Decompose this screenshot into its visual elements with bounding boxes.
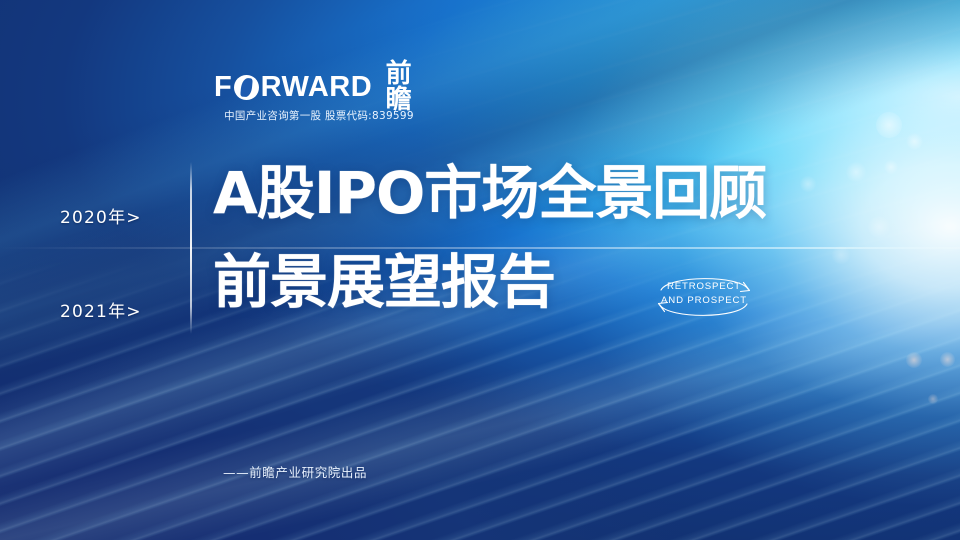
bokeh-circle xyxy=(800,176,816,192)
bokeh-circle xyxy=(868,216,890,238)
year-marker-2021: 2021年> xyxy=(60,297,185,322)
logo-brand-cn: 前瞻 xyxy=(373,61,424,113)
brand-logo: F RWARD 前瞻 中国产业咨询第一股 股票代码:839599 xyxy=(214,72,424,123)
logo-subtitle: 中国产业咨询第一股 股票代码:839599 xyxy=(214,108,424,123)
bokeh-circle xyxy=(846,162,866,182)
logo-wordmark-row: F RWARD 前瞻 xyxy=(214,72,424,102)
bokeh-circle xyxy=(884,160,898,174)
bokeh-circle xyxy=(906,133,923,150)
year-marker-2020: 2020年> xyxy=(60,203,185,228)
forward-leaf-circle-icon xyxy=(234,75,258,100)
bokeh-circle xyxy=(876,112,902,138)
status-badge: RETROSPECT AND PROSPECT xyxy=(645,266,763,328)
page-title-line-1: A股IPO市场全景回顾 xyxy=(213,160,766,228)
bokeh-circle xyxy=(928,394,938,404)
logo-letter-f: F xyxy=(214,73,232,102)
badge-text-line-1: RETROSPECT xyxy=(645,280,763,294)
vertical-divider xyxy=(190,162,192,334)
bokeh-circle xyxy=(832,246,850,264)
badge-text: RETROSPECT AND PROSPECT xyxy=(645,280,763,307)
badge-text-line-2: AND PROSPECT xyxy=(645,294,763,308)
presentation-cover-slide: F RWARD 前瞻 中国产业咨询第一股 股票代码:839599 2020年> … xyxy=(0,0,960,540)
bokeh-circle xyxy=(940,352,955,367)
credit-line: ——前瞻产业研究院出品 xyxy=(223,462,367,481)
logo-letters-rward: RWARD xyxy=(261,73,373,102)
bokeh-circle xyxy=(906,352,922,368)
